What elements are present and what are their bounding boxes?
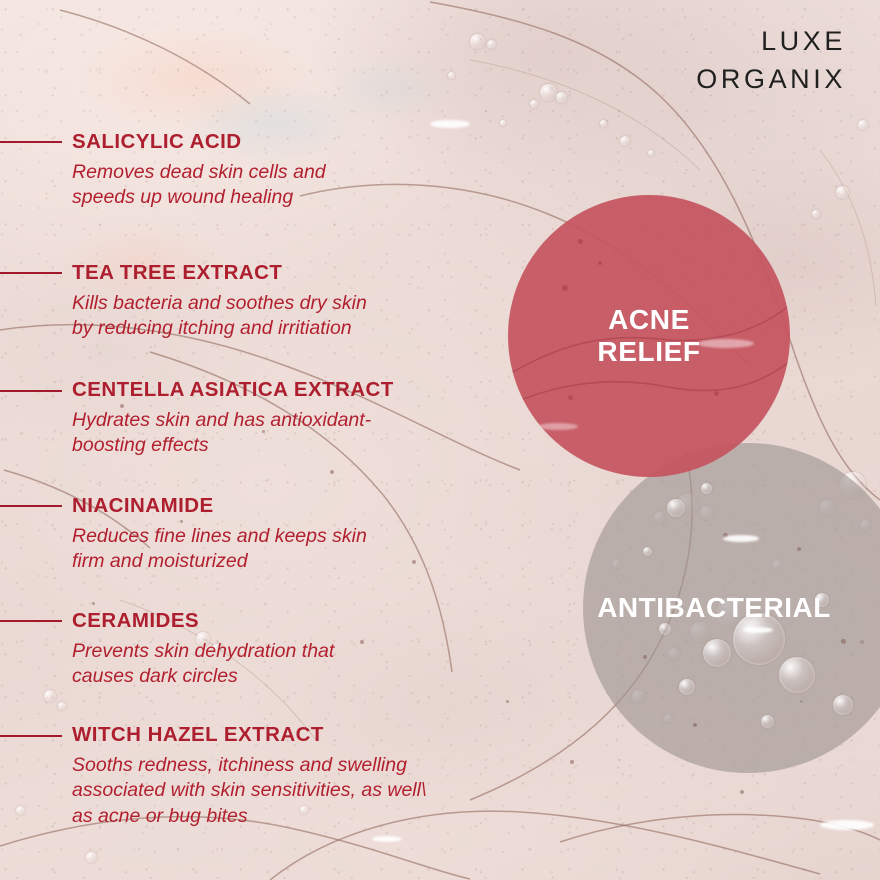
infographic-canvas: LUXE ORGANIX ANTIBACTERIAL [0,0,880,880]
leader-line [0,505,62,507]
ingredient-name: TEA TREE EXTRACT [72,261,282,285]
badge-acne-label: ACNE RELIEF [597,304,700,368]
leader-line [0,620,62,622]
ingredient-name: CENTELLA ASIATICA EXTRACT [72,378,394,402]
leader-line [0,390,62,392]
leader-line [0,735,62,737]
ingredient-name: WITCH HAZEL EXTRACT [72,723,324,747]
ingredient-description: Kills bacteria and soothes dry skin by r… [72,291,367,342]
ingredient-description: Prevents skin dehydration that causes da… [72,639,334,690]
ingredient-description: Sooths redness, itchiness and swelling a… [72,753,426,829]
ingredient-description: Removes dead skin cells and speeds up wo… [72,160,326,211]
brand-line-2: ORGANIX [696,60,846,98]
badge-antibacterial-label: ANTIBACTERIAL [597,592,831,624]
badge-acne-relief: ACNE RELIEF [508,195,790,477]
leader-line [0,141,62,143]
brand-logo: LUXE ORGANIX [696,22,846,99]
ingredient-description: Reduces fine lines and keeps skin firm a… [72,524,367,575]
brand-line-1: LUXE [696,22,846,60]
ingredient-description: Hydrates skin and has antioxidant- boost… [72,408,371,459]
leader-line [0,272,62,274]
ingredient-name: SALICYLIC ACID [72,130,242,154]
ingredient-name: CERAMIDES [72,609,199,633]
ingredient-name: NIACINAMIDE [72,494,214,518]
